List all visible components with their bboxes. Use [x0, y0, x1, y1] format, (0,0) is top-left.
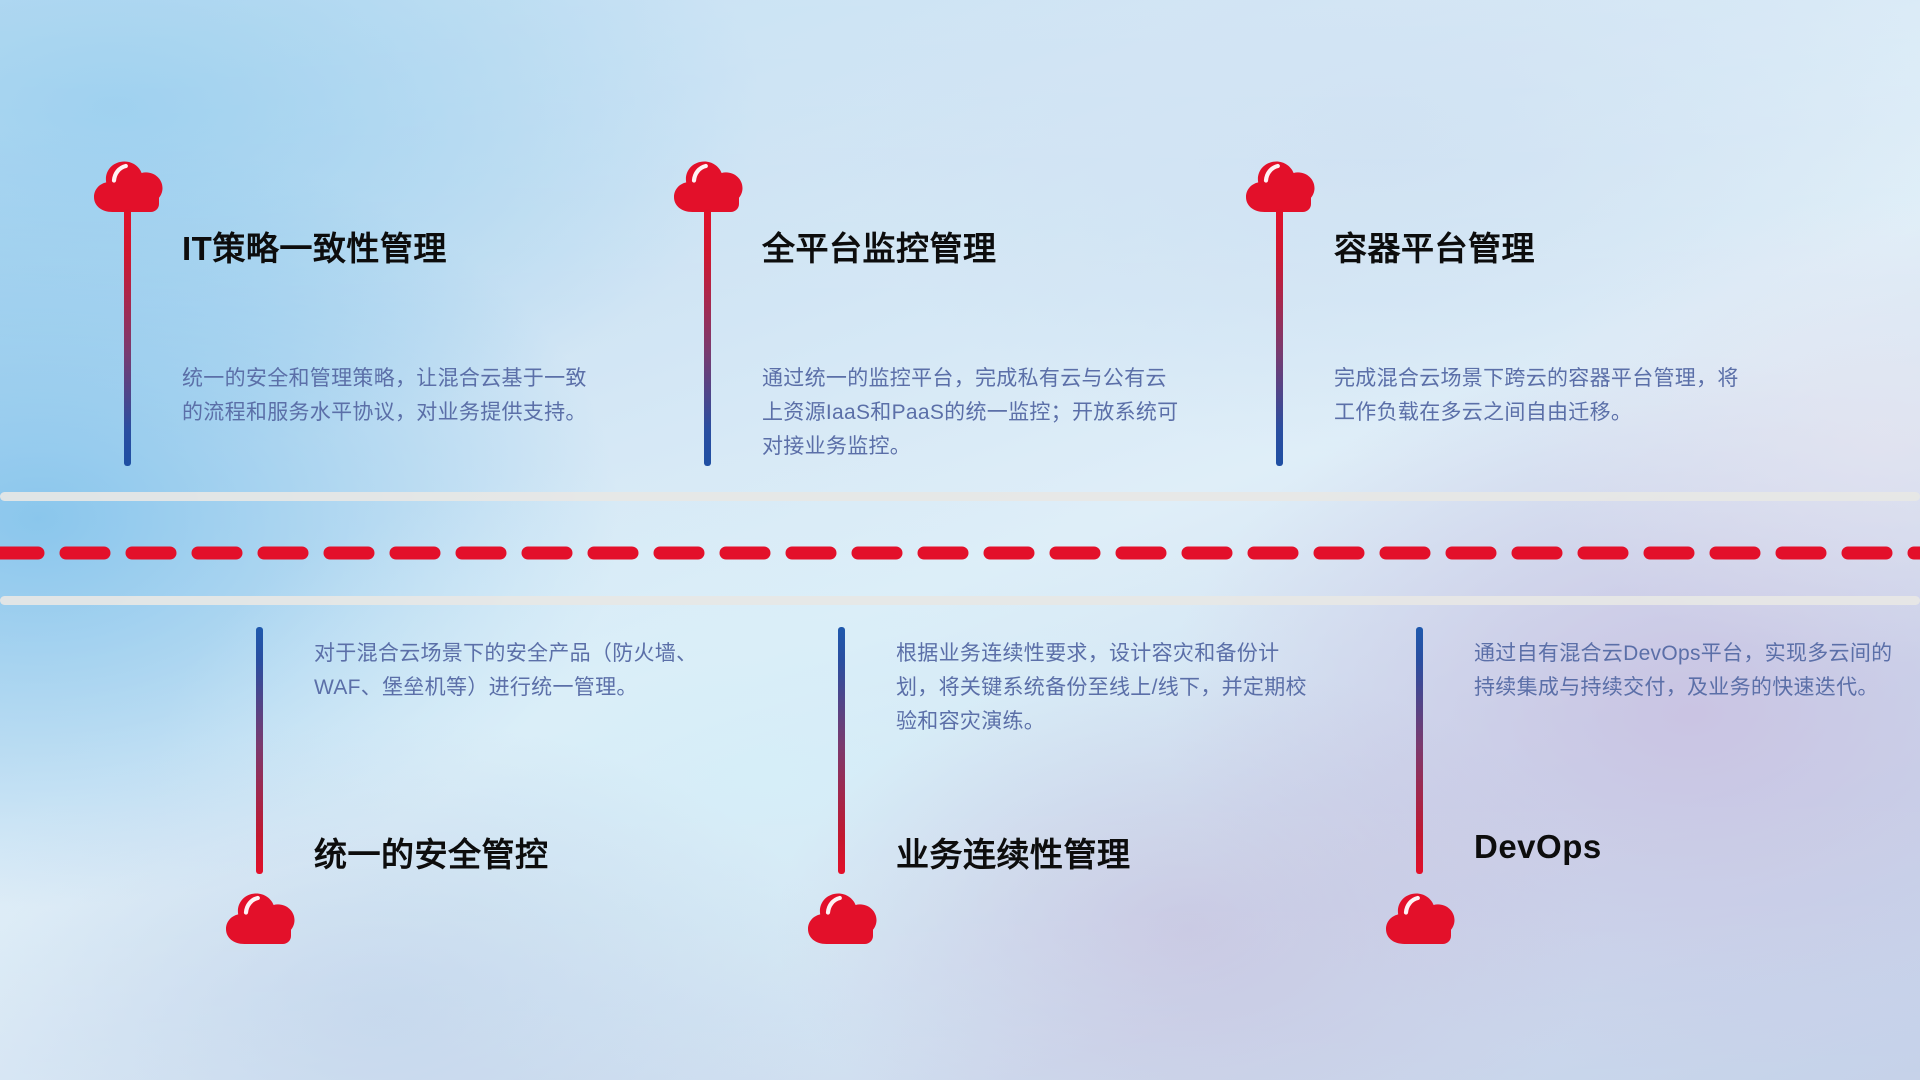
item-title: 统一的安全管控 [314, 828, 549, 876]
item-title: IT策略一致性管理 [182, 222, 447, 270]
divider-line-bottom [0, 596, 1920, 605]
connector-stem [124, 208, 131, 466]
infographic-stage: IT策略一致性管理 统一的安全和管理策略，让混合云基于一致的流程和服务水平协议，… [0, 0, 1920, 1080]
item-title: 业务连续性管理 [896, 828, 1131, 876]
cloud-icon [224, 892, 296, 946]
connector-stem [256, 627, 263, 874]
cloud-icon [92, 160, 164, 214]
item-title: 容器平台管理 [1334, 222, 1535, 270]
item-description: 完成混合云场景下跨云的容器平台管理，将工作负载在多云之间自由迁移。 [1334, 362, 1754, 430]
connector-stem [838, 627, 845, 874]
connector-stem [704, 208, 711, 466]
item-description: 根据业务连续性要求，设计容灾和备份计划，将关键系统备份至线上/线下，并定期校验和… [896, 637, 1316, 739]
cloud-icon [672, 160, 744, 214]
connector-stem [1416, 627, 1423, 874]
item-description: 对于混合云场景下的安全产品（防火墙、WAF、堡垒机等）进行统一管理。 [314, 637, 734, 705]
connector-stem [1276, 208, 1283, 466]
cloud-icon [1384, 892, 1456, 946]
cloud-icon [1244, 160, 1316, 214]
divider-line-top [0, 492, 1920, 501]
item-title: DevOps [1474, 828, 1602, 866]
item-description: 统一的安全和管理策略，让混合云基于一致的流程和服务水平协议，对业务提供支持。 [182, 362, 602, 430]
item-title: 全平台监控管理 [762, 222, 997, 270]
divider-dashed-red [0, 546, 1920, 560]
item-description: 通过统一的监控平台，完成私有云与公有云上资源IaaS和PaaS的统一监控；开放系… [762, 362, 1182, 464]
cloud-icon [806, 892, 878, 946]
item-description: 通过自有混合云DevOps平台，实现多云间的持续集成与持续交付，及业务的快速迭代… [1474, 637, 1894, 705]
